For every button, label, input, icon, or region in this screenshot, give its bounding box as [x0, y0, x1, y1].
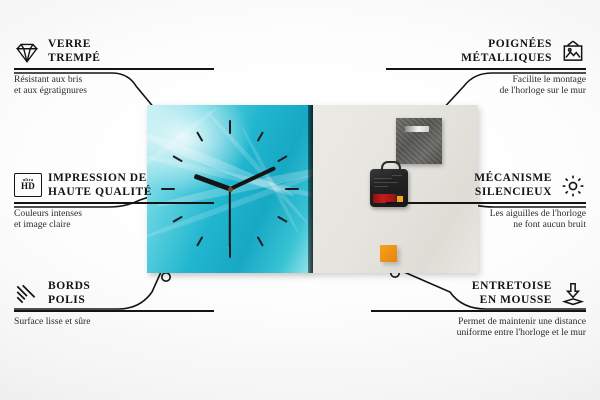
- feature-subtitle: Les aiguilles de l'horloge ne font aucun…: [386, 208, 586, 231]
- ultra-hd-icon-main: HD: [21, 182, 35, 191]
- feature-mecanisme-silencieux: MÉCANISME SILENCIEUX Les aiguilles de l'…: [386, 172, 586, 231]
- feature-subtitle: Permet de maintenir une distance uniform…: [371, 316, 586, 339]
- feature-verre-trempe: VERRE TREMPÉ Résistant aux bris et aux é…: [14, 38, 214, 97]
- polished-edges-icon: [14, 281, 40, 307]
- feature-subtitle: Facilite le montage de l'horloge sur le …: [386, 74, 586, 97]
- hour-tick: [277, 216, 288, 223]
- feature-subtitle: Résistant aux bris et aux égratignures: [14, 74, 214, 97]
- hour-tick: [257, 236, 264, 247]
- divider: [386, 202, 586, 204]
- feature-subtitle: Surface lisse et sûre: [14, 316, 214, 328]
- feature-title: POIGNÉES MÉTALLIQUES: [461, 38, 552, 65]
- hour-tick: [229, 120, 231, 134]
- feature-title: VERRE TREMPÉ: [48, 38, 101, 65]
- ultra-hd-icon: ultra HD: [14, 173, 40, 199]
- feature-impression-haute-qualite: ultra HD IMPRESSION DE HAUTE QUALITÉ Cou…: [14, 172, 214, 231]
- foam-spacer: [380, 245, 397, 262]
- divider: [371, 310, 586, 312]
- feature-title: IMPRESSION DE HAUTE QUALITÉ: [48, 172, 152, 199]
- feature-title: ENTRETOISE EN MOUSSE: [472, 280, 552, 307]
- divider: [14, 202, 214, 204]
- hour-tick: [196, 131, 203, 142]
- feature-title: BORDS POLIS: [48, 280, 90, 307]
- feature-title: MÉCANISME SILENCIEUX: [474, 172, 552, 199]
- hour-tick: [257, 131, 264, 142]
- divider: [386, 68, 586, 70]
- feature-subtitle: Couleurs intenses et image claire: [14, 208, 214, 231]
- hour-tick: [196, 236, 203, 247]
- hour-tick: [277, 155, 288, 162]
- divider: [14, 68, 214, 70]
- feature-poignees-metalliques: POIGNÉES MÉTALLIQUES Facilite le montage…: [386, 38, 586, 97]
- divider: [14, 310, 214, 312]
- hour-tick: [285, 188, 299, 190]
- hanger-slot: [405, 126, 429, 132]
- metal-hanger-plate: [396, 118, 442, 164]
- diamond-icon: [14, 39, 40, 65]
- feature-entretoise-en-mousse: ENTRETOISE EN MOUSSE Permet de maintenir…: [371, 280, 586, 339]
- clock-hub: [228, 187, 233, 192]
- arrow-onto-pad-icon: [560, 281, 586, 307]
- infographic-canvas: VERRE TREMPÉ Résistant aux bris et aux é…: [0, 0, 600, 400]
- second-hand: [229, 189, 231, 247]
- picture-frame-hanging-icon: [560, 39, 586, 65]
- gear-icon: [560, 173, 586, 199]
- feature-bords-polis: BORDS POLIS Surface lisse et sûre: [14, 280, 214, 327]
